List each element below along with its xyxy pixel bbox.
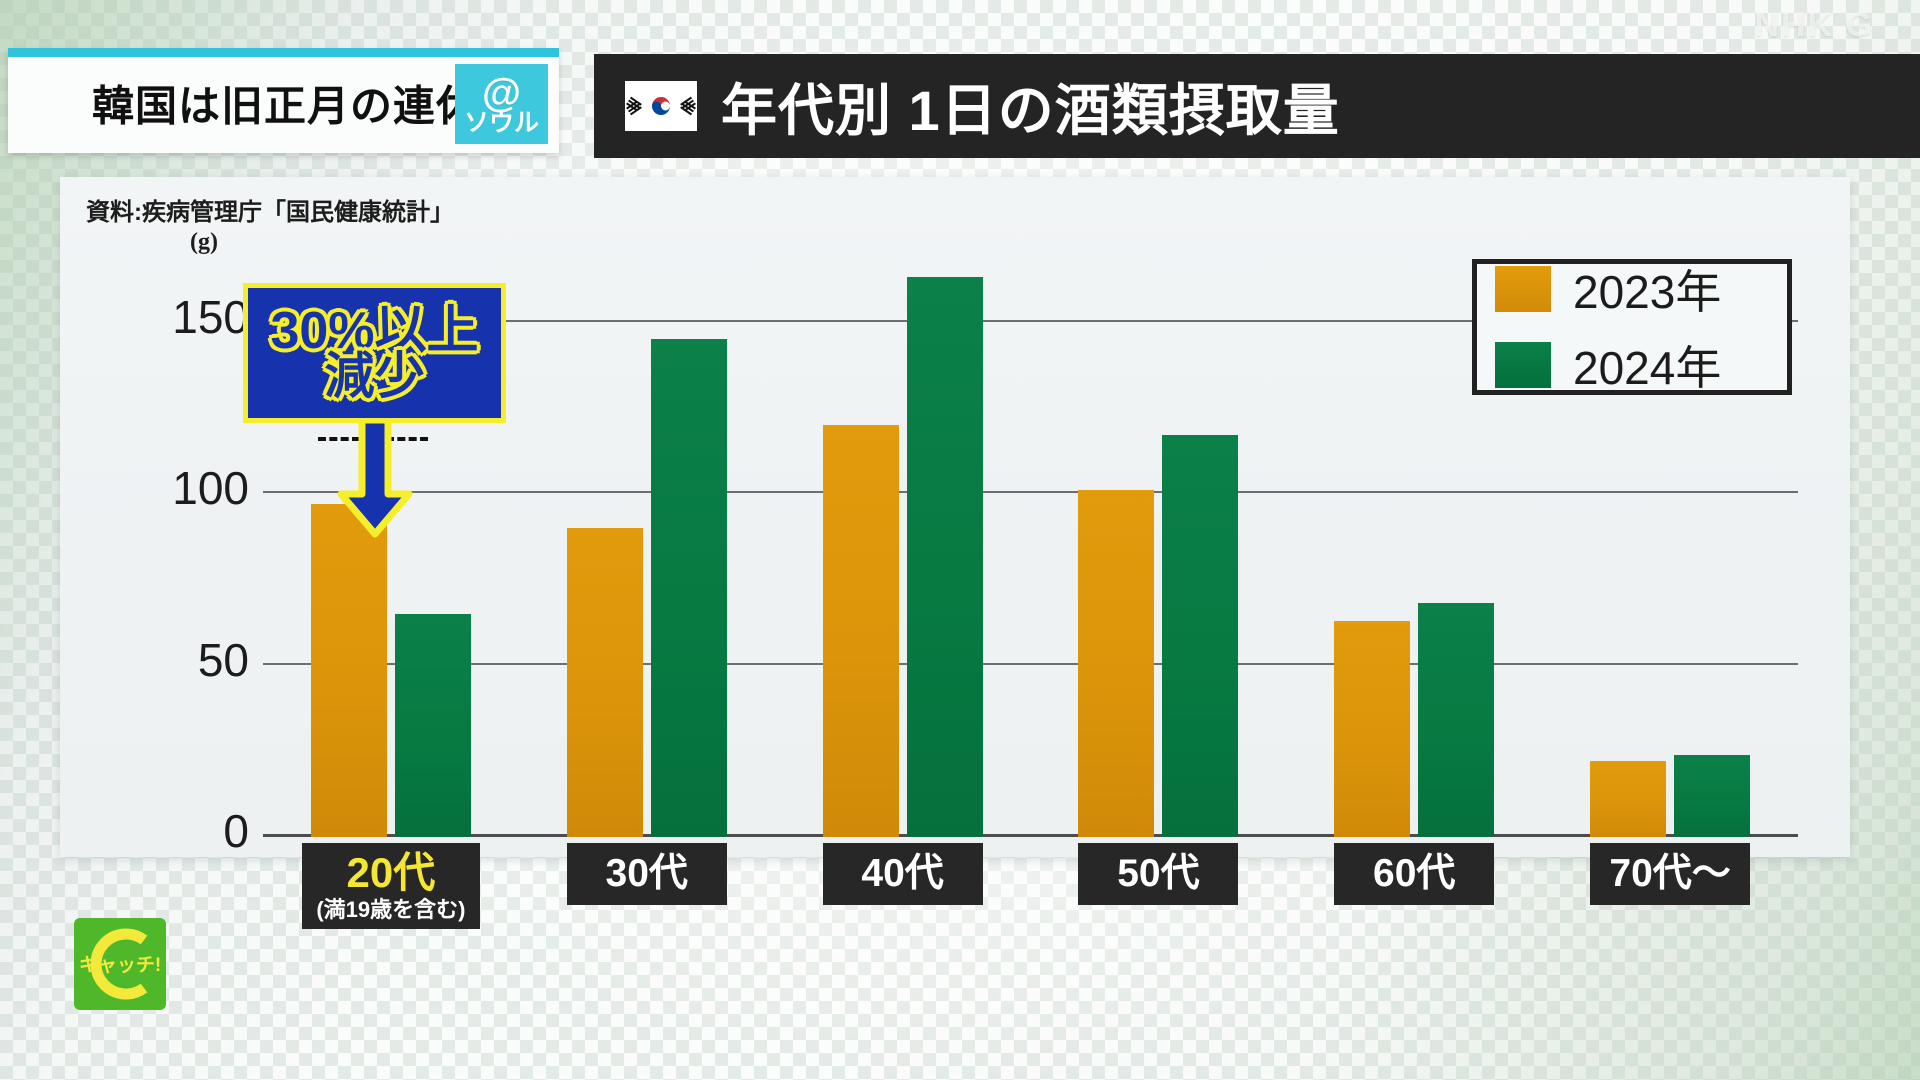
at-symbol-icon: @ — [482, 73, 521, 113]
x-axis-label-main: 20代 — [347, 851, 436, 895]
down-arrow-icon — [336, 420, 414, 538]
legend-label-2023: 2023年 — [1573, 256, 1721, 322]
y-axis-unit-label: (g) — [190, 229, 218, 256]
chart-legend: 2023年 2024年 — [1472, 259, 1792, 395]
bar-2023年-20代 — [311, 504, 387, 837]
title-bar: 年代別 1日の酒類摂取量 — [594, 54, 1920, 158]
legend-item-2023: 2023年 — [1495, 256, 1787, 322]
bar-2023年-40代 — [823, 425, 899, 837]
bar-group — [519, 270, 775, 837]
bar-2024年-60代 — [1418, 603, 1494, 837]
y-axis-tick-0: 0 — [223, 804, 249, 858]
x-axis-label-60代: 60代 — [1334, 843, 1494, 905]
bar-group — [775, 270, 1031, 837]
x-axis-label-main: 60代 — [1373, 854, 1455, 895]
x-axis-label-main: 40代 — [861, 854, 943, 895]
legend-item-2024: 2024年 — [1495, 332, 1787, 398]
broadcast-screen: NHK G 韓国は旧正月の連休 @ ソウル — [0, 0, 1920, 1080]
bar-group — [1030, 270, 1286, 837]
x-axis-label-40代: 40代 — [823, 843, 983, 905]
headline-text: 韓国は旧正月の連休 — [92, 72, 479, 133]
bar-2024年-40代 — [907, 277, 983, 837]
callout-line-2: 減少 — [325, 351, 425, 401]
program-logo: キャッチ! — [74, 918, 166, 1010]
y-axis-tick-50: 50 — [198, 633, 249, 687]
headline-accent-bar — [8, 48, 559, 57]
bar-2023年-70代～ — [1590, 761, 1666, 837]
location-badge-city: ソウル — [464, 111, 539, 136]
legend-swatch-2023 — [1495, 266, 1551, 312]
x-axis-label-main: 70代～ — [1609, 854, 1730, 895]
bar-2023年-50代 — [1078, 490, 1154, 837]
x-axis-label-30代: 30代 — [567, 843, 727, 905]
x-axis-label-50代: 50代 — [1078, 843, 1238, 905]
bar-2023年-60代 — [1334, 621, 1410, 837]
x-axis-category-labels: 20代(満19歳を含む)30代40代50代60代70代～ — [263, 843, 1798, 929]
x-axis-label-subnote: (満19歳を含む) — [316, 898, 465, 921]
x-axis-label-main: 50代 — [1117, 854, 1199, 895]
headline-banner: 韓国は旧正月の連休 @ ソウル — [8, 48, 559, 153]
location-badge: @ ソウル — [455, 64, 548, 144]
south-korea-flag-icon — [625, 81, 697, 131]
bar-2024年-50代 — [1162, 435, 1238, 837]
callout-box: 30%以上 減少 — [243, 283, 506, 423]
x-axis-label-20代: 20代(満19歳を含む) — [302, 843, 480, 929]
chart-source-note: 資料:疾病管理庁「国民健康統計」 — [86, 192, 454, 227]
page-title: 年代別 1日の酒類摂取量 — [721, 66, 1340, 147]
x-axis-label-70代～: 70代～ — [1590, 843, 1750, 905]
nhk-watermark: NHK G — [1754, 6, 1874, 45]
bar-2023年-30代 — [567, 528, 643, 837]
y-axis-tick-100: 100 — [172, 461, 249, 515]
x-axis-label-main: 30代 — [606, 854, 688, 895]
legend-swatch-2024 — [1495, 342, 1551, 388]
svg-text:キャッチ!: キャッチ! — [79, 955, 161, 976]
bar-2024年-30代 — [651, 339, 727, 837]
bar-2024年-20代 — [395, 614, 471, 837]
legend-label-2024: 2024年 — [1573, 332, 1721, 398]
bar-2024年-70代～ — [1674, 755, 1750, 837]
y-axis-tick-150: 150 — [172, 289, 249, 343]
